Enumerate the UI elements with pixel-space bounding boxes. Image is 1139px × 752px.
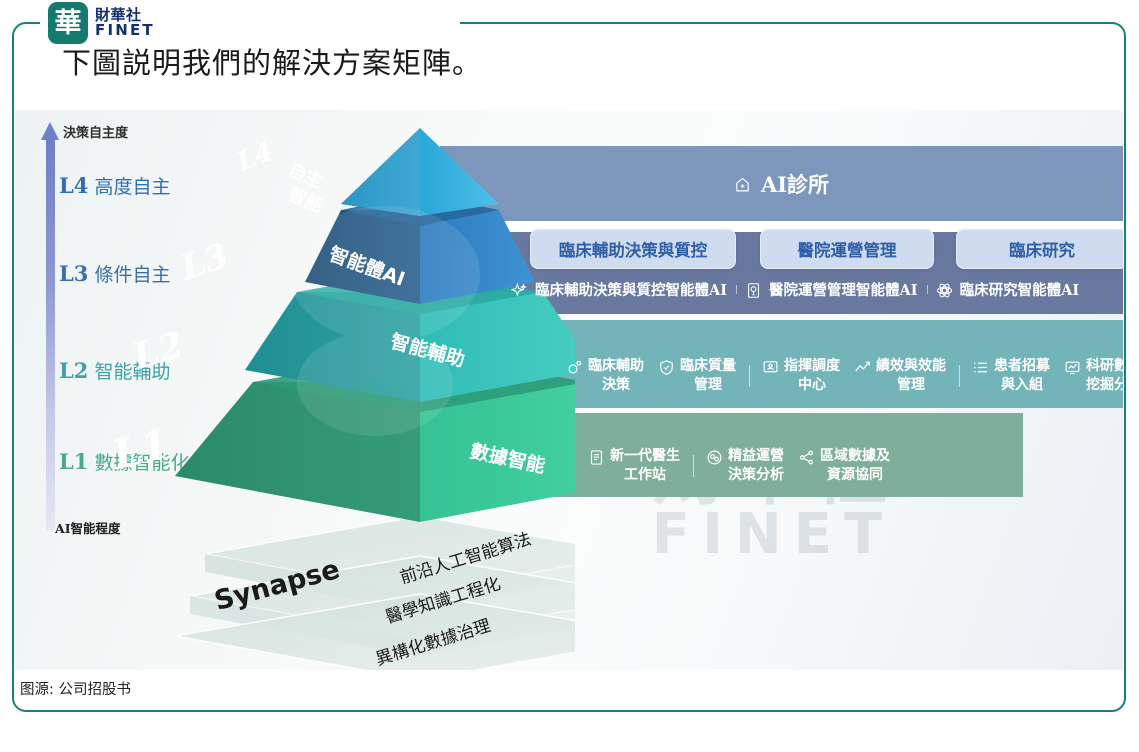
l3-item-clinical-label: 臨床輔助決策與質控智能體AI — [535, 279, 727, 300]
l1-cell-line1: 區域數據及 — [820, 447, 890, 466]
l1-cell-doctor-workstation[interactable]: 新一代醫生 工作站 — [581, 447, 687, 485]
l2-cell-line1: 患者招募 — [994, 357, 1050, 376]
list-icon — [972, 359, 989, 376]
l2-cell-patient-recruitment-text: 患者招募 與入組 — [994, 357, 1050, 395]
l2-cell-quality-mgmt[interactable]: 臨床質量 管理 — [651, 357, 743, 395]
l2-cell-line1: 臨床輔助 — [588, 357, 644, 376]
l3-item-operations[interactable]: 醫院運營管理智能體AI — [736, 279, 927, 300]
axis-bottom-label: AI智能程度 — [55, 518, 121, 537]
level-code-l1: L1 — [59, 449, 88, 474]
solution-matrix-diagram: 財華社 FINET AI診所 臨床輔助決策與質控 醫院運營管理 臨床研 — [15, 110, 1123, 670]
sparkle-icon — [511, 282, 528, 299]
l1-cell-doctor-workstation-text: 新一代醫生 工作站 — [610, 447, 680, 485]
l1-cell-lean-operations[interactable]: 精益運營 決策分析 — [699, 447, 791, 485]
l3-item-research[interactable]: 臨床研究智能體AI — [927, 279, 1089, 300]
bulb-card-icon — [745, 282, 762, 299]
watermark-en: FINET — [652, 507, 894, 563]
brand-name-en: FINET — [95, 23, 155, 38]
l2-cell-clinical-decision[interactable]: 臨床輔助 決策 — [559, 357, 651, 395]
l3-item-research-label: 臨床研究智能體AI — [960, 279, 1080, 300]
trend-icon — [854, 359, 871, 376]
l1-cell-line2: 資源協同 — [827, 466, 883, 485]
l1-cell-line1: 精益運營 — [728, 447, 784, 466]
l3-item-clinical[interactable]: 臨床輔助決策與質控智能體AI — [502, 279, 736, 300]
l2-cell-performance-mgmt[interactable]: 績效與效能 管理 — [847, 357, 953, 395]
chart-box-icon — [1064, 359, 1081, 376]
l1-cell-line2: 工作站 — [624, 466, 666, 485]
l3-item-row: 臨床輔助決策與質控智能體AI 醫院運營管理智能體AI — [440, 265, 1123, 314]
l2-cell-command-center-text: 指揮調度 中心 — [784, 357, 840, 395]
l2-cell-research-data[interactable]: 科研數據 挖掘分析 — [1057, 357, 1123, 395]
l2-cell-command-center[interactable]: 指揮調度 中心 — [755, 357, 847, 395]
l1-cell-regional-data-text: 區域數據及 資源協同 — [820, 447, 890, 485]
l1-cell-line2: 決策分析 — [728, 466, 784, 485]
l1-cell-row: 新一代醫生 工作站 精益運營 決策分析 — [575, 435, 1023, 497]
l2-cell-line2: 中心 — [798, 376, 826, 395]
atom-icon — [936, 282, 953, 299]
level-code-l4: L4 — [59, 173, 88, 198]
l2-cell-line1: 績效與效能 — [876, 357, 946, 376]
source-note: 图源: 公司招股书 — [20, 678, 131, 699]
document-icon — [588, 449, 605, 466]
l2-cell-row: 臨床輔助 決策 臨床質量 管理 — [445, 345, 1123, 407]
brand-logo: 華 財華社 FINET — [48, 2, 155, 44]
l2-group-operations: 指揮調度 中心 績效與效能 管理 — [749, 357, 959, 395]
l2-cell-line2: 與入組 — [1001, 376, 1043, 395]
clinic-home-icon — [734, 176, 751, 193]
l2-cell-clinical-decision-text: 臨床輔助 決策 — [588, 357, 644, 395]
l1-cell-line1: 新一代醫生 — [610, 447, 680, 466]
pill-clinical-research[interactable]: 臨床研究 — [956, 229, 1123, 269]
axis-shaft — [46, 138, 55, 530]
l2-group-research: 患者招募 與入組 科研數據 挖掘分析 — [959, 357, 1123, 395]
level-code-l2: L2 — [59, 358, 88, 383]
l1-cell-regional-data[interactable]: 區域數據及 資源協同 — [791, 447, 897, 485]
pill-clinical-decision[interactable]: 臨床輔助決策與質控 — [530, 229, 736, 269]
brand-wordmark: 財華社 FINET — [95, 8, 155, 39]
l2-cell-line1: 臨床質量 — [680, 357, 736, 376]
l2-cell-line2: 決策 — [602, 376, 630, 395]
l2-cell-line2: 管理 — [694, 376, 722, 395]
l1-cell-lean-operations-text: 精益運營 決策分析 — [728, 447, 784, 485]
page-title: 下圖説明我們的解決方案矩陣。 — [62, 40, 482, 82]
l2-cell-line1: 指揮調度 — [784, 357, 840, 376]
monitor-icon — [762, 359, 779, 376]
brand-mark-icon: 華 — [48, 2, 88, 44]
shield-check-icon — [658, 359, 675, 376]
l2-cell-patient-recruitment[interactable]: 患者招募 與入組 — [965, 357, 1057, 395]
l2-cell-performance-mgmt-text: 績效與效能 管理 — [876, 357, 946, 395]
pill-hospital-operations[interactable]: 醫院運營管理 — [760, 229, 934, 269]
l2-cell-quality-mgmt-text: 臨床質量 管理 — [680, 357, 736, 395]
pill-row: 臨床輔助決策與質控 醫院運營管理 臨床研究 — [440, 229, 1123, 267]
l1-group-workstation: 新一代醫生 工作站 — [575, 447, 693, 485]
band-l4-title: AI診所 — [761, 169, 829, 199]
l1-group-operations: 精益運營 決策分析 區域數據及 資源協同 — [693, 447, 903, 485]
l2-cell-line2: 管理 — [897, 376, 925, 395]
axis-top-label: 決策自主度 — [63, 122, 128, 141]
level-code-l3: L3 — [59, 261, 88, 286]
l2-group-clinical: 臨床輔助 決策 臨床質量 管理 — [553, 357, 749, 395]
l2-cell-line2: 挖掘分析 — [1086, 376, 1123, 395]
share-icon — [798, 449, 815, 466]
gear-circle-icon — [706, 449, 723, 466]
orbit-icon — [566, 359, 583, 376]
l3-item-operations-label: 醫院運營管理智能體AI — [769, 279, 918, 300]
decision-autonomy-axis — [41, 122, 59, 530]
l2-cell-research-data-text: 科研數據 挖掘分析 — [1086, 357, 1123, 395]
l2-cell-line1: 科研數據 — [1086, 357, 1123, 376]
